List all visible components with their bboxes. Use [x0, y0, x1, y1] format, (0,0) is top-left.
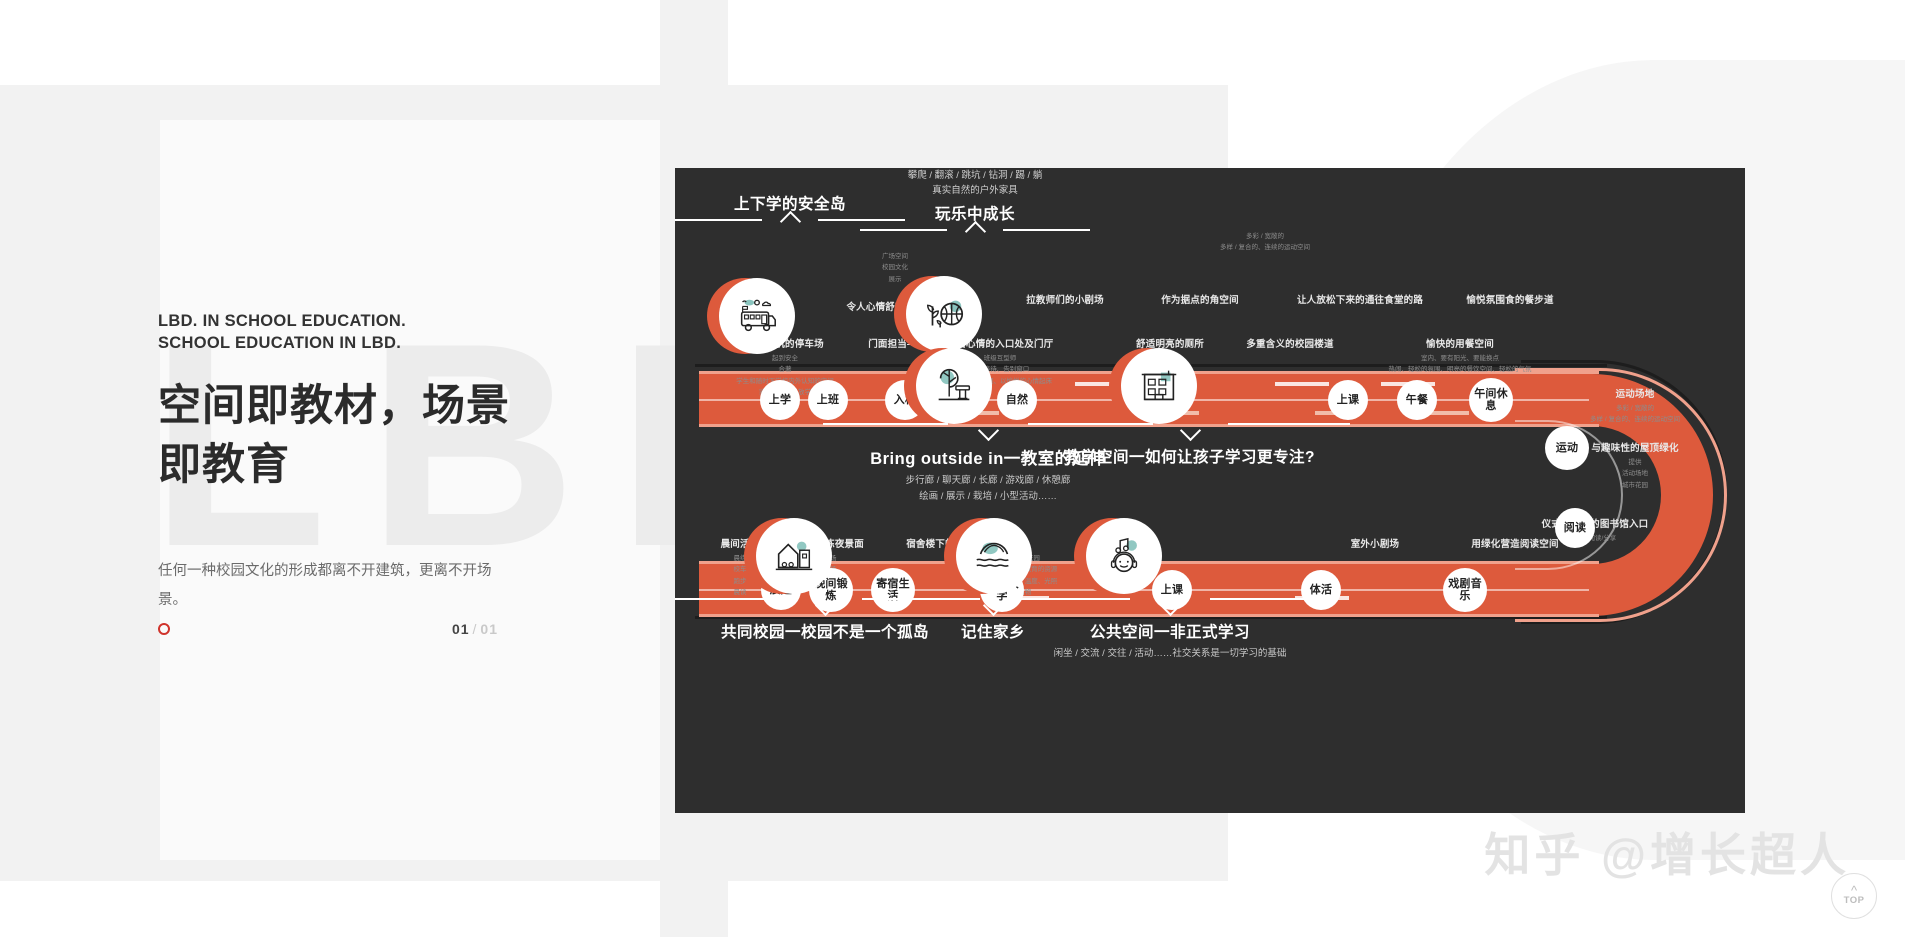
zhihu-watermark: 知乎 @增长超人: [1484, 819, 1850, 885]
station-pill[interactable]: 运动: [1545, 426, 1589, 470]
callout-teaching-space: 教学空间一如何让孩子学习更专注?: [1030, 418, 1350, 467]
caption-title: 与趣味性的屋顶绿化: [1580, 440, 1690, 454]
station-pill[interactable]: 午间休息: [1469, 378, 1513, 422]
medal-corridor[interactable]: [910, 348, 986, 424]
back-to-top-label: TOP: [1844, 895, 1865, 906]
poster-caption: 多彩 / 宽敞的 多样 / 复合的、连续的运动空间: [1200, 228, 1330, 254]
callout-subtitle: 闲坐 / 交流 / 交往 / 活动……社交关系是一切学习的基础: [1005, 646, 1335, 662]
medal-community[interactable]: [750, 518, 826, 594]
caption-title: 仪式感十足的图书馆入口: [1505, 516, 1685, 530]
station-pill[interactable]: 自然: [997, 380, 1037, 420]
medal-hometown[interactable]: [950, 518, 1026, 594]
classroom-building-icon: [1136, 363, 1182, 409]
poster-caption: 运动场地 多彩 / 宽敞的 多样 / 复合的、连续的运动空间: [1580, 386, 1690, 426]
poster-caption: 室外小剧场: [1315, 536, 1435, 550]
back-to-top-button[interactable]: ^ TOP: [1831, 873, 1877, 919]
caption-title: 拉教师们的小剧场: [995, 292, 1135, 306]
medal-disc: [906, 276, 982, 352]
poster-caption: 与趣味性的屋顶绿化 提供 活动场地 城市花园: [1580, 440, 1690, 491]
caption-detail: 多彩 / 宽敞的 多样 / 复合的、连续的运动空间: [1580, 403, 1690, 426]
pager-dot-icon[interactable]: [158, 623, 170, 635]
medal-play-nature[interactable]: [900, 276, 976, 352]
poster-caption: 愉快的用餐空间 室内、要有阳光、要能换点 热闹、轻松的氛围、明亮的餐饮空间、轻松…: [1375, 336, 1545, 376]
callout-headline: 公共空间一非正式学习: [1005, 620, 1335, 642]
caption-title: 室外小剧场: [1315, 536, 1435, 550]
pager-current: 01: [452, 621, 470, 637]
caption-title: 让人放松下来的通往食堂的路: [1275, 292, 1445, 306]
station-pill[interactable]: 上学: [760, 380, 800, 420]
station-pill[interactable]: 上课: [1328, 380, 1368, 420]
left-text-column: LBD. IN SCHOOL EDUCATION. SCHOOL EDUCATI…: [158, 310, 538, 615]
lane-dash: [1275, 382, 1329, 386]
eyebrow-line-2: SCHOOL EDUCATION IN LBD.: [158, 332, 538, 354]
medal-music[interactable]: [1080, 518, 1156, 594]
poster-caption: 拉教师们的小剧场: [995, 292, 1135, 306]
pager: 01/01: [158, 618, 498, 640]
caption-title: 作为据点的角空间: [1130, 292, 1270, 306]
hometown-water-icon: [971, 533, 1017, 579]
infographic-poster: 上学 上班 入校 自然 课间 上课 午餐 午间休息 运动 晨起 晚间锻炼 寄宿生…: [675, 168, 1745, 813]
pager-separator: /: [473, 621, 478, 637]
medal-classroom[interactable]: [1115, 348, 1191, 424]
school-bus-icon: [734, 293, 780, 339]
lede-paragraph: 任何一种校园文化的形成都离不开建筑，更离不开场景。: [158, 557, 513, 615]
community-houses-icon: [771, 533, 817, 579]
caption-detail: 提供 活动场地 城市花园: [1580, 457, 1690, 491]
eyebrow-line-1: LBD. IN SCHOOL EDUCATION.: [158, 310, 538, 332]
poster-caption: 仪式感十足的图书馆入口 开放/阅读/分享: [1505, 516, 1685, 544]
outdoor-corridor-icon: [931, 363, 977, 409]
medal-disc: [1086, 518, 1162, 594]
callout-subtitle-top: 攀爬 / 翻滚 / 跳坑 / 钻洞 / 踢 / 躺 真实自然的户外家具: [860, 168, 1090, 198]
caption-title: 愉快的用餐空间: [1375, 336, 1545, 350]
plant-ball-icon: [921, 291, 967, 337]
medal-disc: [916, 348, 992, 424]
eyebrow-heading: LBD. IN SCHOOL EDUCATION. SCHOOL EDUCATI…: [158, 310, 538, 355]
bracket-icon: [1005, 598, 1335, 612]
station-pill[interactable]: 戏剧音乐: [1443, 568, 1487, 612]
callout-public-space: 公共空间一非正式学习 闲坐 / 交流 / 交往 / 活动……社交关系是一切学习的…: [1005, 593, 1335, 662]
medal-disc: [956, 518, 1032, 594]
station-pill[interactable]: 午餐: [1397, 380, 1437, 420]
caption-detail: 室内、要有阳光、要能换点 热闹、轻松的氛围、明亮的餐饮空间、轻松的气氛: [1375, 353, 1545, 376]
caption-title: 多重含义的校园楼道: [1220, 336, 1360, 350]
caption-detail: 开放/阅读/分享: [1505, 533, 1685, 544]
music-headphone-icon: [1101, 533, 1147, 579]
caption-title: 愉悦氛围食的餐步道: [1435, 292, 1585, 306]
callout-headline: 教学空间一如何让孩子学习更专注?: [1030, 445, 1350, 467]
callout-subtitle: 步行廊 / 聊天廊 / 长廊 / 游戏廊 / 休憩廊 绘画 / 展示 / 栽培 …: [823, 473, 1153, 504]
medal-disc: [756, 518, 832, 594]
station-pill[interactable]: 上班: [808, 380, 848, 420]
caption-title: 运动场地: [1580, 386, 1690, 400]
caption-detail: 多彩 / 宽敞的 多样 / 复合的、连续的运动空间: [1200, 231, 1330, 254]
page-title: 空间即教材，场景即教育: [158, 377, 538, 496]
pager-total: 01: [480, 621, 498, 637]
callout-play-growth: 攀爬 / 翻滚 / 跳坑 / 钻洞 / 踢 / 躺 真实自然的户外家具 玩乐中成…: [860, 168, 1090, 243]
station-pill[interactable]: 阅读: [1555, 508, 1595, 548]
pager-numbers: 01/01: [452, 621, 498, 637]
poster-caption: 愉悦氛围食的餐步道: [1435, 292, 1585, 306]
poster-caption: 多重含义的校园楼道: [1220, 336, 1360, 350]
poster-caption: 作为据点的角空间: [1130, 292, 1270, 306]
poster-caption: 让人放松下来的通往食堂的路: [1275, 292, 1445, 306]
chevron-up-icon: ^: [1851, 886, 1857, 895]
medal-school-bus[interactable]: [713, 278, 789, 354]
page-root: LBD LBD. IN SCHOOL EDUCATION. SCHOOL EDU…: [0, 0, 1905, 937]
bracket-icon: [1030, 423, 1350, 437]
bracket-icon: [860, 229, 1090, 243]
medal-disc: [719, 278, 795, 354]
medal-disc: [1121, 348, 1197, 424]
